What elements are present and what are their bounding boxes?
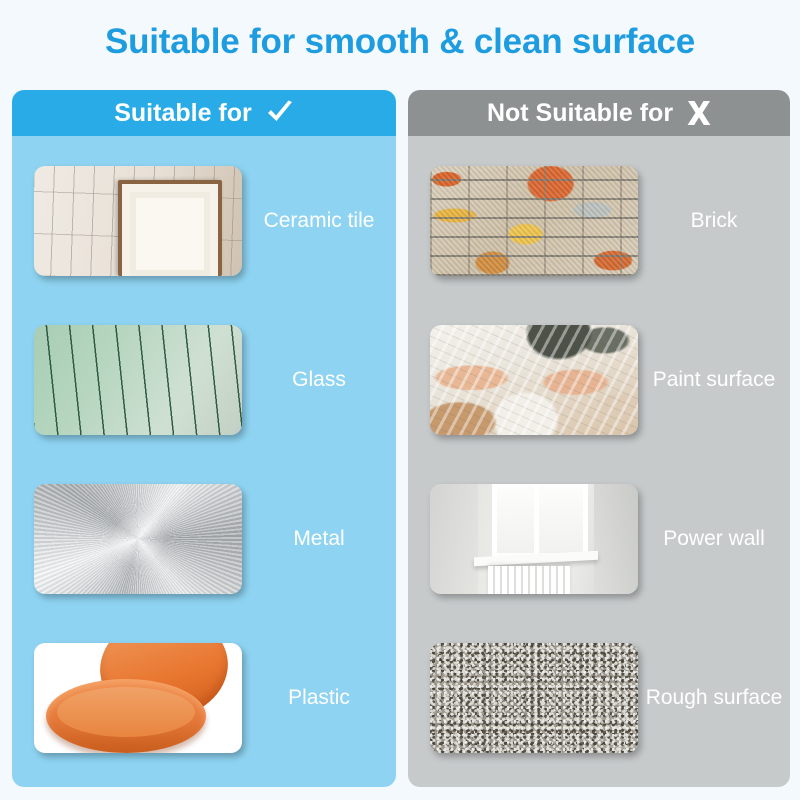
rough-surface-photo <box>430 643 638 753</box>
item-label: Ceramic tile <box>242 209 396 233</box>
list-item: Rough surface <box>408 623 790 773</box>
plastic-photo <box>34 643 242 753</box>
thumbnail-wrapper <box>430 484 638 594</box>
thumbnail-wrapper <box>34 484 242 594</box>
item-label: Paint surface <box>638 368 790 392</box>
thumbnail-wrapper <box>430 643 638 753</box>
list-item: Paint surface <box>408 305 790 455</box>
page-title: Suitable for smooth & clean surface <box>0 22 800 62</box>
list-item: Metal <box>12 464 396 614</box>
list-item: Ceramic tile <box>12 146 396 296</box>
paint-surface-photo <box>430 325 638 435</box>
item-label: Brick <box>638 209 790 233</box>
not-suitable-panel: Not Suitable for Brick Paint surface <box>408 90 790 787</box>
suitable-panel-header-label: Suitable for <box>114 99 252 128</box>
not-suitable-panel-header: Not Suitable for <box>408 90 790 136</box>
list-item: Brick <box>408 146 790 296</box>
list-item: Glass <box>12 305 396 455</box>
brick-photo <box>430 166 638 276</box>
ceramic-tile-photo <box>34 166 242 276</box>
thumbnail-wrapper <box>430 325 638 435</box>
not-suitable-item-list: Brick Paint surface Power wall <box>408 136 790 787</box>
list-item: Plastic <box>12 623 396 773</box>
list-item: Power wall <box>408 464 790 614</box>
comparison-panels: Suitable for Ceramic tile <box>0 90 800 788</box>
thumbnail-wrapper <box>34 166 242 276</box>
thumbnail-wrapper <box>34 643 242 753</box>
glass-photo <box>34 325 242 435</box>
item-label: Rough surface <box>638 686 790 710</box>
check-icon <box>266 100 294 126</box>
power-wall-photo <box>430 484 638 594</box>
item-label: Glass <box>242 368 396 392</box>
x-icon <box>687 100 711 126</box>
item-label: Metal <box>242 527 396 551</box>
item-label: Power wall <box>638 527 790 551</box>
suitable-item-list: Ceramic tile Glass Metal <box>12 136 396 787</box>
metal-photo <box>34 484 242 594</box>
suitable-panel: Suitable for Ceramic tile <box>12 90 396 787</box>
thumbnail-wrapper <box>34 325 242 435</box>
not-suitable-panel-header-label: Not Suitable for <box>487 99 673 128</box>
thumbnail-wrapper <box>430 166 638 276</box>
suitable-panel-header: Suitable for <box>12 90 396 136</box>
item-label: Plastic <box>242 686 396 710</box>
